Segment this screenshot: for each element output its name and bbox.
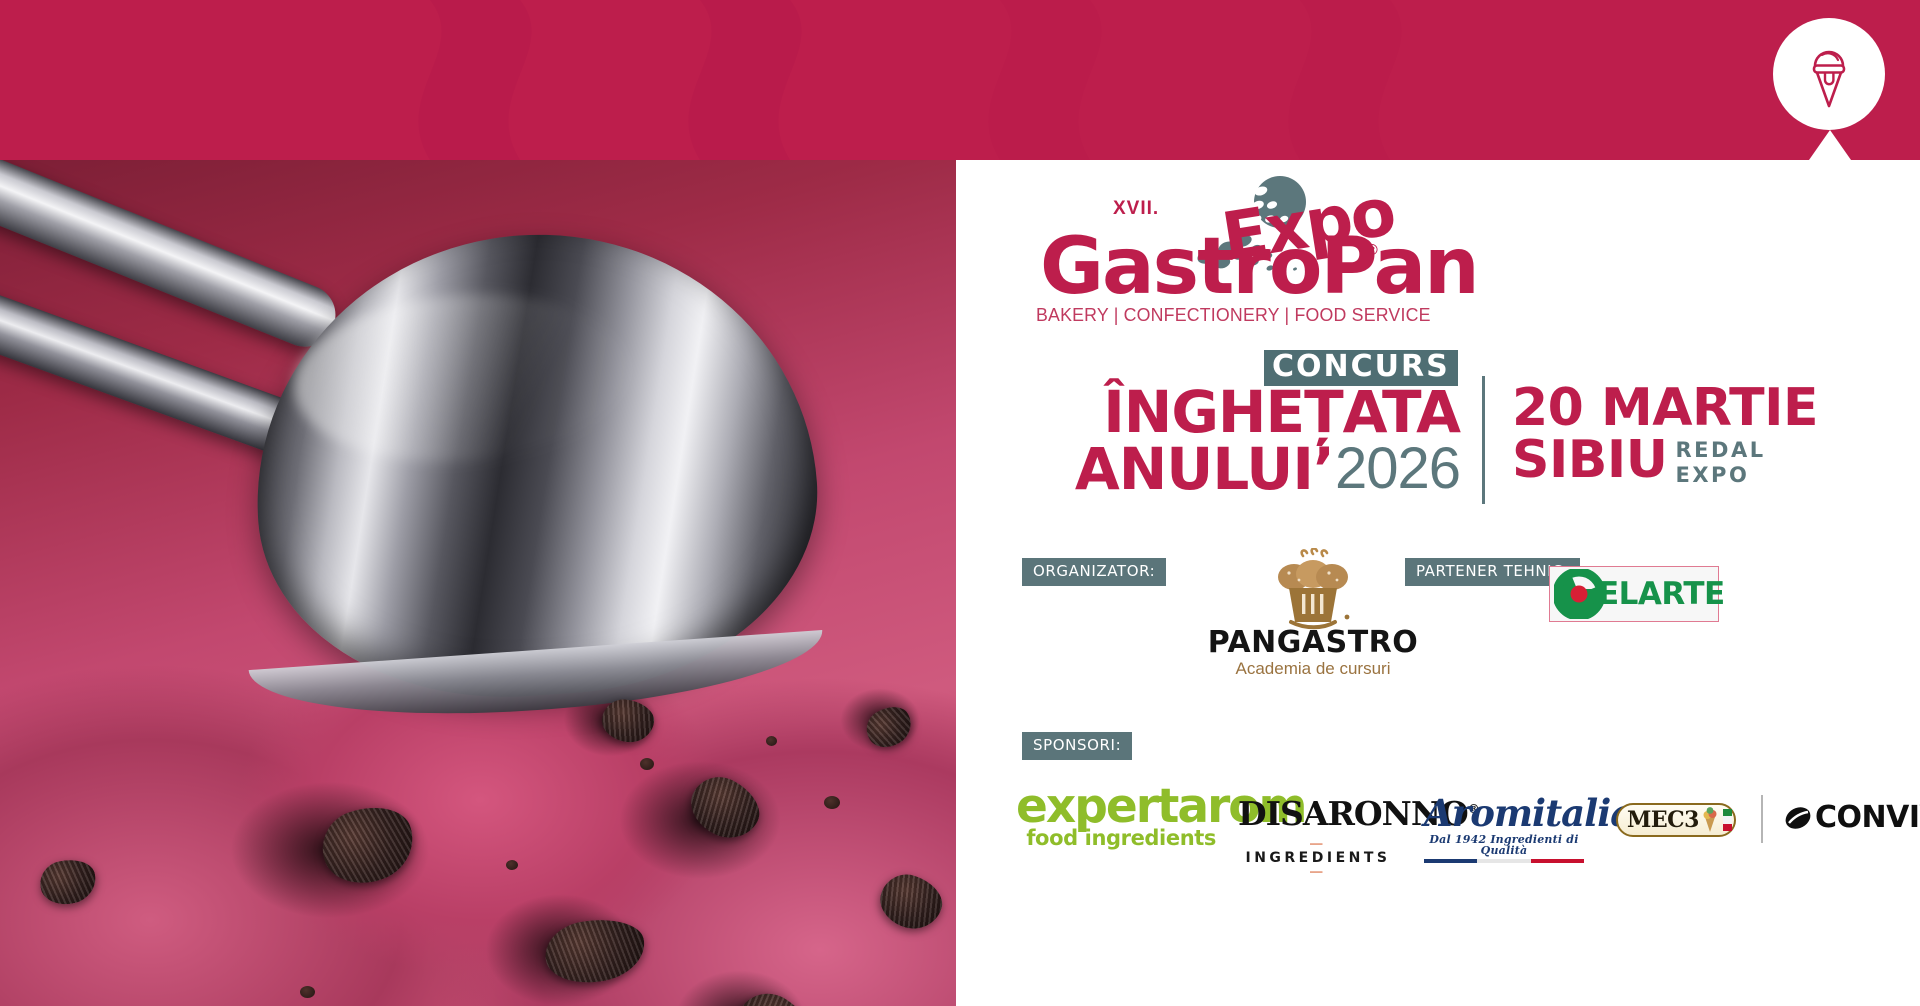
cookie-crumb (640, 758, 654, 770)
badge-pointer-notch (1809, 130, 1851, 160)
cookie-piece (313, 796, 423, 895)
sponsor-logo-expertarom[interactable]: expertarom food ingredients (1016, 785, 1216, 849)
organizer-name: PANGASTRO (1198, 628, 1428, 658)
wave-pattern-decoration (0, 0, 1920, 160)
cookie-piece (36, 855, 100, 910)
sponsor-name: MEC3 (1627, 809, 1699, 831)
sponsor-name: Aromitalia (1424, 795, 1584, 832)
organizer-subtitle: Academia de cursuri (1198, 660, 1428, 677)
sponsor-name: CONVIVIS (1815, 803, 1920, 833)
competition-name-line2-row: ANULUI’2026 (1000, 441, 1460, 498)
flag-stripe-white (1723, 816, 1732, 823)
cookie-crumb (506, 860, 518, 870)
cookie-piece (681, 767, 769, 849)
chef-hat-bread-icon (1261, 548, 1365, 630)
label-sponsori: SPONSORI: (1022, 732, 1132, 760)
venue-line2: EXPO (1676, 463, 1750, 487)
event-venue: REDAL EXPO (1676, 438, 1766, 488)
competition-name: ÎNGHEȚATA ANULUI’2026 (1000, 384, 1460, 498)
poster-root: XVII. (0, 0, 1920, 1006)
flag-stripe-red (1723, 824, 1732, 831)
venue-line1: REDAL (1676, 438, 1766, 462)
hero-photo-panel (0, 160, 1000, 1006)
sponsor-name: expertarom (1016, 785, 1216, 828)
sponsor-subtitle: food ingredients (1016, 828, 1216, 849)
italy-flag-icon (1723, 809, 1732, 831)
zigzag-edge-shape (956, 160, 1000, 1006)
apostrophe-mark: ’ (1313, 441, 1335, 498)
cookie-crumb (766, 736, 777, 746)
logo-word-pan: Pan (1320, 222, 1477, 312)
cookie-piece (860, 699, 919, 755)
cookie-piece (599, 697, 656, 746)
dash-right-decoration: — (1309, 864, 1327, 880)
gelarte-g-icon (1554, 569, 1604, 619)
sponsor-name-row: DISARONNO® (1238, 797, 1398, 830)
partner-name: ELARTE (1598, 579, 1725, 610)
event-title-block: CONCURS ÎNGHEȚATA ANULUI’2026 20 MARTIE … (1000, 350, 1920, 520)
competition-name-line1: ÎNGHEȚATA (1000, 384, 1460, 441)
ice-cream-photo (0, 160, 1000, 1006)
sponsor-logo-disaronno[interactable]: DISARONNO® — INGREDIENTS — (1238, 797, 1398, 879)
logo-tagline: BAKERY | CONFECTIONERY | FOOD SERVICE (1036, 304, 1431, 326)
cookie-piece (541, 913, 649, 990)
sponsor-subtitle-row: — INGREDIENTS — (1238, 837, 1398, 879)
sponsor-subtitle: Dal 1942 Ingredienti di Qualità (1424, 834, 1584, 856)
top-banner-band (0, 0, 1920, 160)
logo-word-gastro: Gastro (1040, 222, 1320, 312)
flag-stripe-red (1531, 859, 1584, 863)
event-city-row: SIBIU REDAL EXPO (1512, 434, 1818, 488)
coffee-bean-icon (1784, 804, 1812, 832)
sponsor-logo-convivis[interactable]: CONVIVIS (1784, 803, 1920, 833)
sponsors-row: expertarom food ingredients DISARONNO® —… (1016, 775, 1906, 865)
ice-cream-badge (1773, 18, 1885, 130)
partner-logo-gelarte[interactable]: ELARTE (1549, 566, 1719, 622)
flag-stripe-green (1723, 809, 1732, 816)
cookie-crumb (824, 796, 840, 809)
gastropan-logo[interactable]: XVII. (1030, 170, 1450, 330)
logo-wordmark: GastroPan (1040, 228, 1478, 306)
sponsor-divider (1761, 795, 1763, 843)
event-year: 2026 (1335, 441, 1460, 498)
sponsor-logo-mec3[interactable]: MEC3 (1616, 803, 1736, 837)
flag-stripe-green (1424, 859, 1477, 863)
gelato-cone-icon (1701, 807, 1719, 833)
title-vertical-divider (1482, 376, 1485, 504)
competition-name-line2: ANULUI (1075, 441, 1313, 498)
cookie-crumb (300, 986, 315, 998)
flag-stripe-white (1477, 859, 1530, 863)
content-panel: XVII. (1000, 160, 1920, 1006)
cookie-piece (873, 868, 948, 937)
sponsor-logo-aromitalia[interactable]: Aromitalia Dal 1942 Ingredienti di Quali… (1424, 795, 1584, 863)
italy-flag-decoration (1424, 859, 1584, 863)
label-organizator: ORGANIZATOR: (1022, 558, 1166, 586)
event-date-location: 20 MARTIE SIBIU REDAL EXPO (1512, 382, 1818, 488)
event-date: 20 MARTIE (1512, 382, 1818, 434)
cookie-piece (726, 981, 824, 1006)
event-city: SIBIU (1512, 434, 1668, 486)
organizer-logo-pangastro[interactable]: PANGASTRO Academia de cursuri (1198, 548, 1428, 668)
ice-cream-cone-icon (1803, 40, 1855, 110)
